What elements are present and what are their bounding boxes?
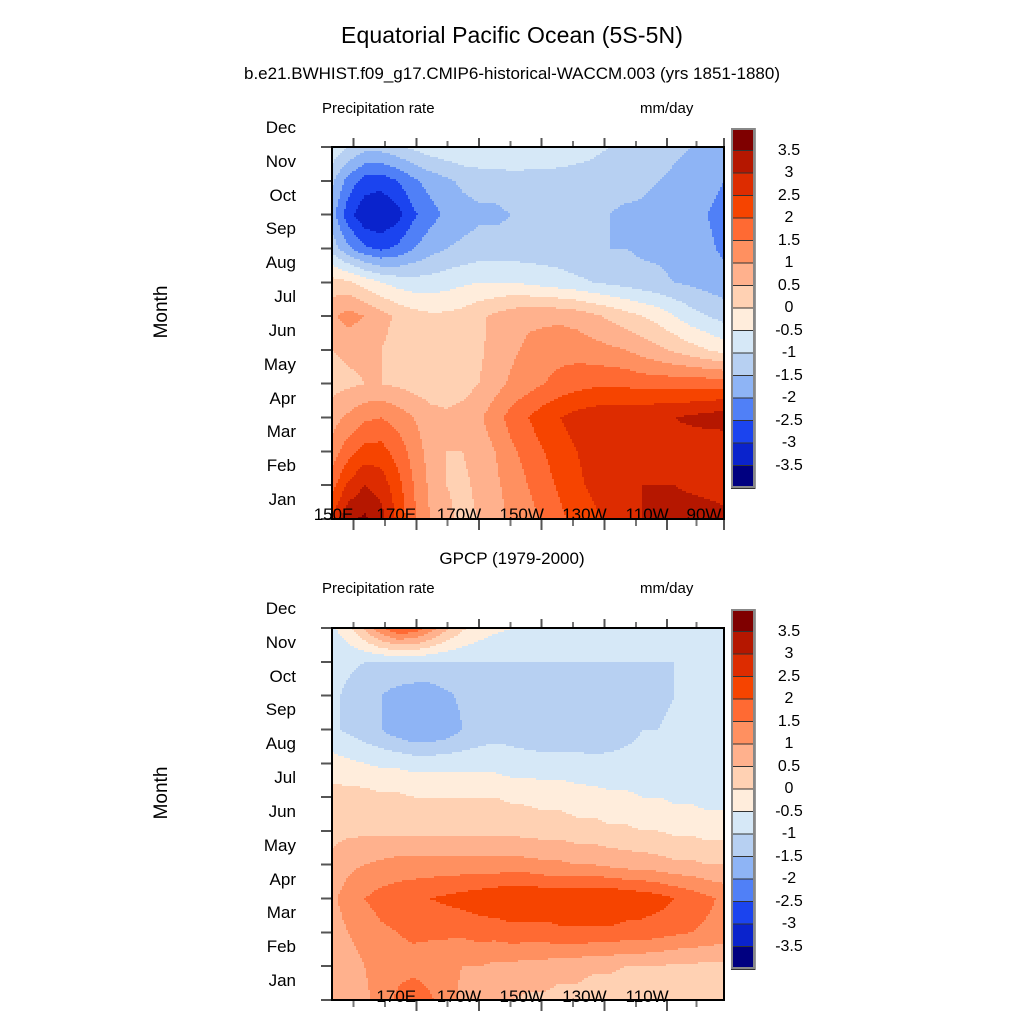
colorbar-tick-label: 1 bbox=[766, 736, 812, 752]
colorbar-tick-label: -1.5 bbox=[766, 849, 812, 865]
y-tick-label: Sep bbox=[228, 701, 296, 718]
colorbar-tick-label: 2.5 bbox=[766, 669, 812, 685]
y-tick-label: Feb bbox=[228, 938, 296, 955]
y-tick-label: Oct bbox=[228, 668, 296, 685]
colorbar-tick-label: 3 bbox=[766, 646, 812, 662]
y-tick-label: May bbox=[228, 837, 296, 854]
panel-gpcp: GPCP (1979-2000)Precipitation ratemm/day… bbox=[0, 0, 1024, 1024]
colorbar-gpcp bbox=[731, 609, 759, 973]
colorbar-tick-label: -3.5 bbox=[766, 939, 812, 955]
x-tick-label: 110W bbox=[602, 988, 692, 1005]
colorbar-tick-label: -1 bbox=[766, 826, 812, 842]
colorbar-tick-label: -0.5 bbox=[766, 804, 812, 820]
colorbar-tick-label: 0 bbox=[766, 781, 812, 797]
colorbar-tick-label: -2.5 bbox=[766, 894, 812, 910]
contour-plot-gpcp bbox=[312, 608, 744, 1020]
colorbar-tick-label: 0.5 bbox=[766, 759, 812, 775]
figure-root: Equatorial Pacific Ocean (5S-5N) b.e21.B… bbox=[0, 0, 1024, 1024]
y-tick-label: Jan bbox=[228, 972, 296, 989]
y-tick-label: Aug bbox=[228, 735, 296, 752]
colorbar-tick-label: -3 bbox=[766, 916, 812, 932]
y-tick-label: Nov bbox=[228, 634, 296, 651]
colorbar-tick-label: 2 bbox=[766, 691, 812, 707]
colorbar-tick-label: 1.5 bbox=[766, 714, 812, 730]
colorbar-tick-label: 3.5 bbox=[766, 624, 812, 640]
colorbar-tick-label: -2 bbox=[766, 871, 812, 887]
y-tick-label: Jul bbox=[228, 769, 296, 786]
y-tick-label: Apr bbox=[228, 871, 296, 888]
y-axis-label-gpcp: Month bbox=[151, 693, 173, 893]
panel-header-right-gpcp: mm/day bbox=[640, 580, 693, 597]
panel-header-left-gpcp: Precipitation rate bbox=[322, 580, 435, 597]
y-tick-label: Mar bbox=[228, 904, 296, 921]
panel-title-gpcp: GPCP (1979-2000) bbox=[0, 549, 1024, 569]
y-tick-label: Dec bbox=[228, 600, 296, 617]
y-tick-label: Jun bbox=[228, 803, 296, 820]
